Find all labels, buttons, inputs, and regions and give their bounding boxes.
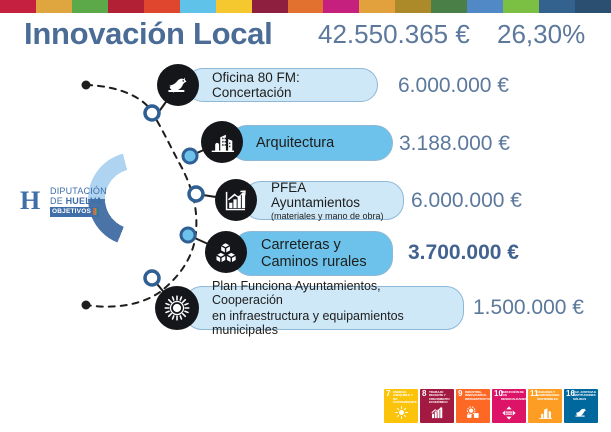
color-strip-segment <box>575 0 611 13</box>
page-header: Innovación Local 42.550.365 € 26,30% <box>0 16 611 58</box>
city-buildings-icon <box>528 403 562 422</box>
color-strip-segment <box>467 0 503 13</box>
sdg-badge-10: 10 REDUCCIÓN DE LAS DESIGUALDADES <box>492 389 526 423</box>
color-strip-segment <box>180 0 216 13</box>
row-amount: 6.000.000 € <box>411 189 522 213</box>
color-strip-segment <box>252 0 288 13</box>
color-strip-segment <box>359 0 395 13</box>
color-strip-segment <box>539 0 575 13</box>
sdg-color-strip <box>0 0 611 13</box>
color-strip-segment <box>323 0 359 13</box>
road-cubes-icon[interactable] <box>205 231 247 273</box>
sdg-number: 7 <box>386 390 390 398</box>
sdg-number: 9 <box>458 390 462 398</box>
sdg-caption: CIUDADES Y COMUNIDADES SOSTENIBLES <box>537 391 561 401</box>
color-strip-segment <box>72 0 108 13</box>
sun-icon <box>384 403 418 422</box>
row-label-2: en infraestructura y equipamientos munic… <box>212 309 453 337</box>
row-label: PFEA Ayuntamientos <box>271 180 395 210</box>
gear-cube-icon <box>456 403 490 422</box>
color-strip-segment <box>216 0 252 13</box>
color-strip-segment <box>395 0 431 13</box>
color-strip-segment <box>36 0 72 13</box>
logo-huelva: HUELVA <box>66 196 103 206</box>
logo-objetivos: OBJETIVOS <box>52 208 91 215</box>
pill-label[interactable]: Carreteras y Caminos rurales <box>233 231 393 276</box>
growth-chart-icon[interactable] <box>215 179 257 221</box>
row-label: Carreteras y <box>261 237 341 253</box>
equal-arrows-icon <box>492 403 526 422</box>
row-sublabel: (materiales y mano de obra) <box>271 211 384 221</box>
dove-peace-icon <box>564 403 598 422</box>
row-amount: 3.700.000 € <box>408 241 519 265</box>
pill-label[interactable]: PFEA Ayuntamientos (materiales y mano de… <box>243 181 404 220</box>
row-amount: 3.188.000 € <box>399 132 510 156</box>
city-buildings-icon[interactable] <box>201 121 243 163</box>
row-label: Arquitectura <box>256 135 334 151</box>
sdg-caption: INDUSTRIA, INNOVACIÓN E INFRAESTRUCTURA <box>465 391 489 401</box>
total-amount: 42.550.365 € <box>318 19 470 50</box>
sdg-badge-11: 11 CIUDADES Y COMUNIDADES SOSTENIBLES <box>528 389 562 423</box>
color-strip-segment <box>0 0 36 13</box>
pill-label[interactable]: Oficina 80 FM: Concertación <box>186 68 378 102</box>
dove-peace-icon[interactable] <box>157 64 199 106</box>
row-amount: 6.000.000 € <box>398 74 509 98</box>
diputacion-de-huelva-logo: H DIPUTACIÓN DE HUELVA OBJETIVOS <box>20 186 130 220</box>
page-title: Innovación Local <box>24 16 272 52</box>
logo-de: DE <box>50 196 66 206</box>
pill-label[interactable]: Plan Funciona Ayuntamientos, Cooperación… <box>184 286 464 330</box>
logo-h-mark: H <box>20 188 46 214</box>
color-strip-segment <box>288 0 324 13</box>
logo-line-de-huelva: DE HUELVA <box>50 197 130 207</box>
sdg-caption: PAZ, JUSTICIA E INSTITUCIONES SÓLIDAS <box>573 391 597 401</box>
pill-label[interactable]: Arquitectura <box>229 125 393 161</box>
sdg-badge-7: 7 ENERGÍA ASEQUIBLE Y NO CONTAMINANTE <box>384 389 418 423</box>
logo-wordmark: DIPUTACIÓN DE HUELVA OBJETIVOS <box>50 187 130 217</box>
color-strip-segment <box>144 0 180 13</box>
sdg-badge-16: 16 PAZ, JUSTICIA E INSTITUCIONES SÓLIDAS <box>564 389 598 423</box>
sdg-badge-8: 8 TRABAJO DECENTE Y CRECIMIENTO ECONÓMIC… <box>420 389 454 423</box>
logo-objetivos-tag: OBJETIVOS <box>50 207 99 217</box>
row-amount: 1.500.000 € <box>473 296 584 320</box>
sdg-number: 8 <box>422 390 426 398</box>
sdg-caption: REDUCCIÓN DE LAS DESIGUALDADES <box>501 391 525 401</box>
color-strip-segment <box>503 0 539 13</box>
logo-sdg-gradient-tag <box>93 208 97 215</box>
sdg-badge-9: 9 INDUSTRIA, INNOVACIÓN E INFRAESTRUCTUR… <box>456 389 490 423</box>
row-label: Plan Funciona Ayuntamientos, Cooperación <box>212 279 453 307</box>
slide-canvas: Innovación Local 42.550.365 € 26,30% H D… <box>0 0 611 432</box>
growth-chart-icon <box>420 403 454 422</box>
total-percent: 26,30% <box>497 19 585 50</box>
color-strip-segment <box>108 0 144 13</box>
row-label-2: Caminos rurales <box>261 254 367 270</box>
row-label: Oficina 80 FM: Concertación <box>212 70 365 100</box>
sdg-badge-row: 7 ENERGÍA ASEQUIBLE Y NO CONTAMINANTE 8 … <box>384 389 598 423</box>
sun-energy-icon[interactable] <box>155 286 199 330</box>
color-strip-segment <box>431 0 467 13</box>
